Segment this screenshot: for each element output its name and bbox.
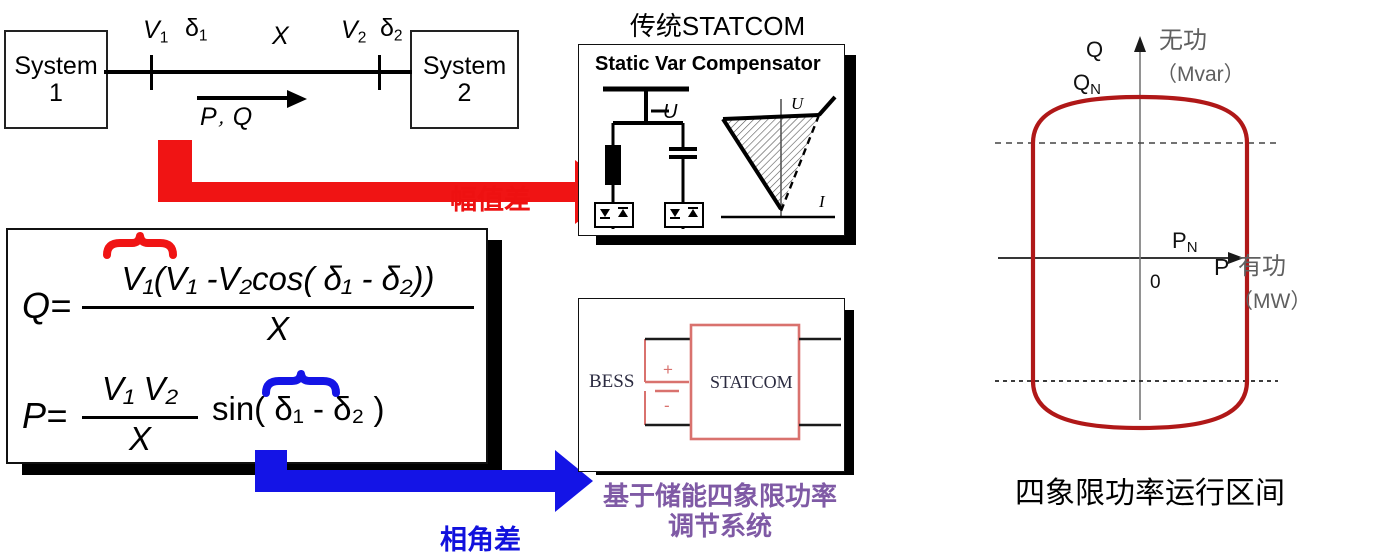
q-axis-symbol-text: Q bbox=[1086, 37, 1103, 62]
red-elbow-arrow bbox=[155, 140, 620, 240]
v1-subscript: 1 bbox=[160, 29, 169, 46]
q-rated-text: QN bbox=[1073, 70, 1101, 98]
v2-symbol: V bbox=[341, 16, 358, 44]
flow-comma: ， bbox=[217, 112, 233, 129]
v2-subscript: 2 bbox=[358, 29, 367, 46]
svg-text:U: U bbox=[791, 94, 805, 113]
delta2-symbol: δ bbox=[380, 14, 394, 42]
bus-2-angle-label: δ2 bbox=[380, 14, 403, 45]
statcom-panel-title: 传统STATCOM bbox=[575, 6, 860, 43]
bess-source-text: BESS bbox=[589, 371, 634, 392]
p-equation-denominator: X bbox=[82, 420, 198, 458]
reactance-label: X bbox=[272, 22, 289, 51]
p-equation-numerator: V₁ V₂ bbox=[84, 370, 196, 408]
svc-vi-characteristic-icon: U I bbox=[715, 87, 839, 229]
q-equation-lhs: Q= bbox=[22, 285, 71, 327]
p-axis-unit-text: （MW） bbox=[1232, 290, 1311, 313]
p-fraction-bar bbox=[82, 416, 198, 419]
svc-bus-voltage-label: U bbox=[663, 101, 677, 124]
p-axis-symbol-text: P bbox=[1214, 254, 1229, 280]
svc-panel[interactable]: Static Var Compensator U bbox=[578, 44, 845, 236]
p-rated-text: PN bbox=[1172, 228, 1198, 256]
delta2-subscript: 2 bbox=[394, 27, 403, 44]
q-equation-numerator: V₁(V₁ -V₂cos( δ₁ - δ₂)) bbox=[84, 260, 472, 298]
svc-circuit-icon bbox=[591, 83, 717, 229]
converter-label-text: STATCOM bbox=[710, 372, 793, 392]
blue-brace-icon bbox=[263, 372, 339, 396]
origin-label-text: 0 bbox=[1150, 272, 1161, 293]
power-flow-label: P，Q bbox=[200, 103, 252, 132]
q-axis-arrowhead bbox=[1134, 36, 1146, 52]
bus-2-voltage-label: V2 bbox=[341, 16, 366, 47]
battery-minus-text: - bbox=[664, 396, 670, 415]
p-equation-lhs: P= bbox=[22, 395, 67, 437]
flow-p-symbol: P bbox=[200, 103, 217, 131]
bus-2-tick bbox=[378, 55, 381, 90]
red-brace-icon bbox=[104, 234, 176, 258]
bus-1-tick bbox=[150, 55, 153, 90]
svc-panel-heading: Static Var Compensator bbox=[595, 53, 821, 76]
q-fraction-bar bbox=[82, 306, 474, 309]
bess-statcom-circuit-icon: BESS + - STATCOM bbox=[579, 299, 844, 471]
system-2-box[interactable]: System 2 bbox=[410, 30, 519, 129]
delta1-symbol: δ bbox=[185, 14, 199, 42]
q-axis-unit-text: （Mvar） bbox=[1156, 63, 1245, 86]
q-equation-denominator: X bbox=[82, 310, 474, 348]
capability-curve-plot: Q QN 无功 （Mvar） P PN 有功 （MW） 0 bbox=[960, 0, 1375, 470]
bess-panel[interactable]: BESS + - STATCOM bbox=[578, 298, 845, 472]
blue-elbow-arrow bbox=[255, 450, 595, 512]
flow-q-symbol: Q bbox=[233, 103, 252, 131]
capability-chart-title: 四象限功率运行区间 bbox=[985, 468, 1315, 512]
system-2-label-line1: System bbox=[423, 53, 506, 80]
bus-1-angle-label: δ1 bbox=[185, 14, 208, 45]
capability-chart: Q QN 无功 （Mvar） P PN 有功 （MW） 0 bbox=[960, 0, 1375, 470]
delta1-subscript: 1 bbox=[199, 27, 208, 44]
bus-1-voltage-label: V1 bbox=[143, 16, 168, 47]
equation-box[interactable]: Q= V₁(V₁ -V₂cos( δ₁ - δ₂)) X P= V₁ V₂ X … bbox=[6, 228, 488, 464]
system-1-label-line1: System bbox=[14, 53, 97, 80]
system-1-box[interactable]: System 1 bbox=[4, 30, 108, 129]
svg-text:I: I bbox=[818, 192, 826, 211]
system-2-label-line2: 2 bbox=[458, 80, 472, 107]
p-axis-cn-text: 有功 bbox=[1238, 253, 1286, 280]
bess-panel-caption: 基于储能四象限功率 调节系统 bbox=[575, 482, 865, 542]
bess-caption-line1: 基于储能四象限功率 bbox=[575, 482, 865, 512]
red-arrow-label: 幅值差 bbox=[450, 178, 531, 217]
system-1-label-line2: 1 bbox=[49, 80, 63, 107]
v1-symbol: V bbox=[143, 16, 160, 44]
battery-plus-text: + bbox=[663, 360, 673, 379]
bess-caption-line2: 调节系统 bbox=[575, 512, 865, 542]
single-line-diagram: System 1 System 2 V1 δ1 X V2 δ2 P，Q bbox=[0, 0, 540, 150]
q-axis-cn-text: 无功 bbox=[1159, 27, 1207, 54]
blue-arrow-label: 相角差 bbox=[440, 518, 521, 557]
